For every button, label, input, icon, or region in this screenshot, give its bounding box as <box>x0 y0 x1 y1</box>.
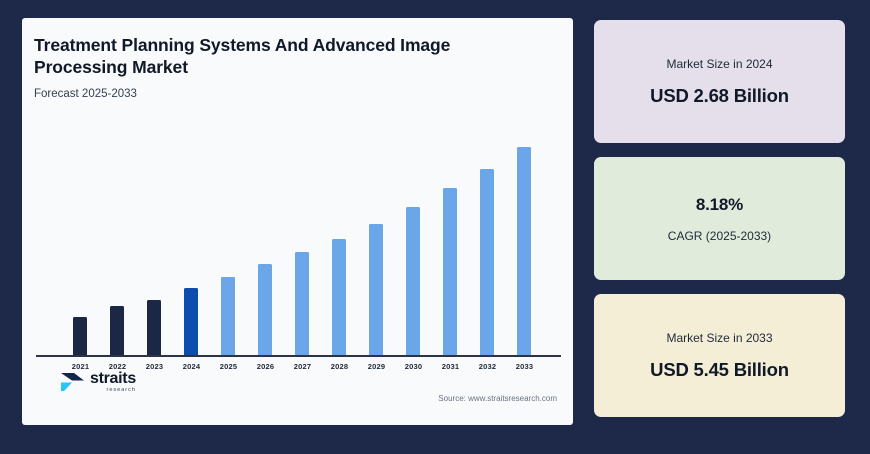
bar-2027 <box>295 252 309 355</box>
x-tick-2033: 2033 <box>506 362 543 371</box>
stat-card-label: CAGR (2025-2033) <box>668 229 771 243</box>
bar-column <box>432 118 469 355</box>
bar-2028 <box>332 239 346 355</box>
bar-column <box>136 118 173 355</box>
logo-subword: research <box>107 388 136 394</box>
logo-word: straits <box>90 371 136 387</box>
bar-2033 <box>517 147 531 355</box>
bar-2023 <box>147 300 161 355</box>
bar-2029 <box>369 224 383 355</box>
logo-text: straits research <box>90 371 136 394</box>
straits-arrow-mark <box>60 371 86 393</box>
x-tick-2030: 2030 <box>395 362 432 371</box>
bar-series <box>62 118 572 355</box>
chart-subtitle: Forecast 2025-2033 <box>34 88 137 100</box>
bar-2025 <box>221 277 235 355</box>
bar-column <box>358 118 395 355</box>
x-tick-2028: 2028 <box>321 362 358 371</box>
bar-column <box>99 118 136 355</box>
x-tick-2027: 2027 <box>284 362 321 371</box>
bar-2032 <box>480 169 494 355</box>
bar-column <box>173 118 210 355</box>
x-tick-2031: 2031 <box>432 362 469 371</box>
stat-card-2: 8.18%CAGR (2025-2033) <box>594 157 845 280</box>
stat-card-label: Market Size in 2024 <box>666 57 772 71</box>
bar-column <box>321 118 358 355</box>
bar-2031 <box>443 188 457 355</box>
stat-card-label: Market Size in 2033 <box>666 331 772 345</box>
bar-column <box>210 118 247 355</box>
x-axis-line <box>36 355 561 357</box>
bar-column <box>284 118 321 355</box>
bar-column <box>247 118 284 355</box>
x-tick-2024: 2024 <box>173 362 210 371</box>
bar-column <box>506 118 543 355</box>
infographic-root: Treatment Planning Systems And Advanced … <box>0 0 870 454</box>
x-axis-labels: 2021202220232024202520262027202820292030… <box>62 359 572 377</box>
bar-2030 <box>406 207 420 355</box>
x-tick-2029: 2029 <box>358 362 395 371</box>
bar-column <box>62 118 99 355</box>
stat-card-value: 8.18% <box>696 195 743 215</box>
straits-research-logo: straits research <box>60 371 136 394</box>
source-note: Source: www.straitsresearch.com <box>438 394 557 403</box>
x-tick-2023: 2023 <box>136 362 173 371</box>
bar-column <box>395 118 432 355</box>
stat-card-value: USD 2.68 Billion <box>650 85 789 107</box>
stat-card-1: Market Size in 2024USD 2.68 Billion <box>594 20 845 143</box>
x-tick-2026: 2026 <box>247 362 284 371</box>
bar-2024 <box>184 288 198 355</box>
bar-2021 <box>73 317 87 355</box>
x-tick-2025: 2025 <box>210 362 247 371</box>
stat-card-list: Market Size in 2024USD 2.68 Billion8.18%… <box>594 20 845 417</box>
x-tick-2032: 2032 <box>469 362 506 371</box>
stat-card-3: Market Size in 2033USD 5.45 Billion <box>594 294 845 417</box>
page-title: Treatment Planning Systems And Advanced … <box>34 34 534 79</box>
bar-2022 <box>110 306 124 355</box>
stat-card-value: USD 5.45 Billion <box>650 359 789 381</box>
chart-panel: Treatment Planning Systems And Advanced … <box>22 18 573 425</box>
bar-column <box>469 118 506 355</box>
bar-2026 <box>258 264 272 355</box>
